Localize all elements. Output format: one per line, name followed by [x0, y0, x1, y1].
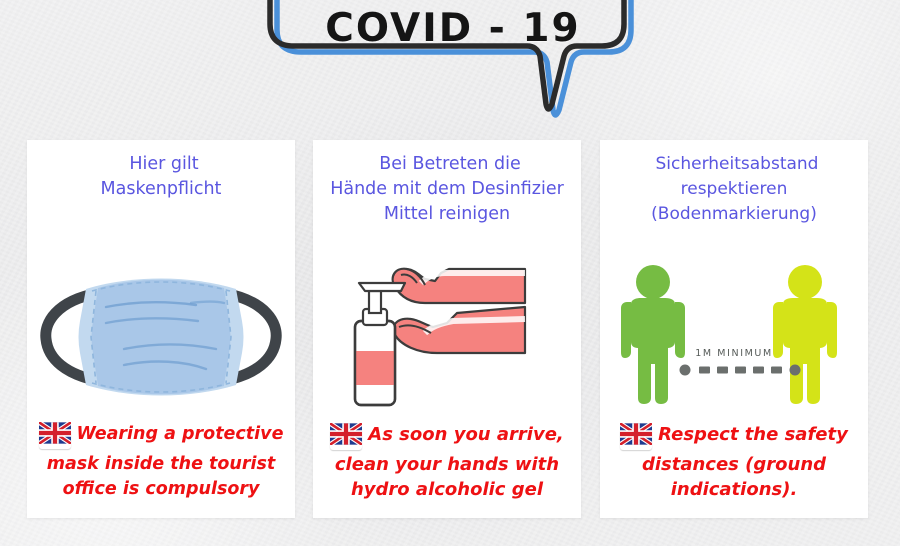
card-distance-english-line-2: distances (ground	[610, 452, 858, 477]
card-mask-footer: Wearing a protective mask inside the tou…	[27, 422, 295, 502]
card-distance: Sicherheitsabstand respektieren (Bodenma…	[600, 140, 868, 518]
card-distance-german-line-3: (Bodenmarkierung)	[610, 202, 858, 227]
mask-pleat-1b	[191, 302, 224, 304]
mask-face	[92, 280, 231, 395]
distance-dot-line	[680, 365, 801, 376]
uk-flag-icon	[39, 422, 71, 452]
card-sanitizer-english-line-2: clean your hands with	[323, 452, 571, 477]
card-mask-english-line-3: office is compulsory	[37, 477, 285, 502]
card-mask-german-line-2: Maskenpflicht	[37, 177, 285, 202]
poster-canvas: COVID - 19 Hier gilt Maskenpflicht	[0, 0, 900, 546]
pump-head	[359, 283, 405, 291]
card-sanitizer-german-line-3: Mittel reinigen	[323, 202, 571, 227]
figure-left	[621, 265, 685, 404]
card-distance-german-line-2: respektieren	[610, 177, 858, 202]
uk-flag-icon	[330, 423, 362, 452]
card-distance-english-line-1: Respect the safety	[610, 422, 858, 452]
page-title: COVID - 19	[253, 6, 653, 51]
pump-stem	[369, 291, 381, 313]
surgical-mask-illustration	[27, 252, 295, 420]
card-mask-header: Hier gilt Maskenpflicht	[27, 152, 295, 202]
distance-label: 1M MINIMUM	[695, 348, 773, 359]
card-sanitizer-header: Bei Betreten die Hände mit dem Desinfizi…	[313, 152, 581, 227]
card-sanitizer-german-line-1: Bei Betreten die	[323, 152, 571, 177]
card-sanitizer: Bei Betreten die Hände mit dem Desinfizi…	[313, 140, 581, 518]
lower-hand	[393, 307, 525, 353]
card-distance-header: Sicherheitsabstand respektieren (Bodenma…	[600, 152, 868, 227]
card-mask: Hier gilt Maskenpflicht	[27, 140, 295, 518]
card-mask-english-line-2: mask inside the tourist	[37, 452, 285, 477]
figure-right	[773, 265, 837, 404]
card-sanitizer-english-line-3: hydro alcoholic gel	[323, 477, 571, 502]
card-distance-german-line-1: Sicherheitsabstand	[610, 152, 858, 177]
card-distance-footer: Respect the safety distances (ground ind…	[600, 422, 868, 502]
card-sanitizer-english-line-1: As soon you arrive,	[323, 422, 571, 452]
social-distancing-illustration: 1M MINIMUM	[600, 252, 868, 420]
hand-sanitizer-illustration	[313, 252, 581, 420]
card-distance-english-line-3: indications).	[610, 477, 858, 502]
card-sanitizer-footer: As soon you arrive, clean your hands wit…	[313, 422, 581, 502]
uk-flag-icon	[620, 423, 652, 452]
card-mask-english-line-1: Wearing a protective	[37, 422, 285, 452]
card-mask-german-line-1: Hier gilt	[37, 152, 285, 177]
bottle-liquid	[356, 351, 394, 385]
card-sanitizer-german-line-2: Hände mit dem Desinfizier	[323, 177, 571, 202]
